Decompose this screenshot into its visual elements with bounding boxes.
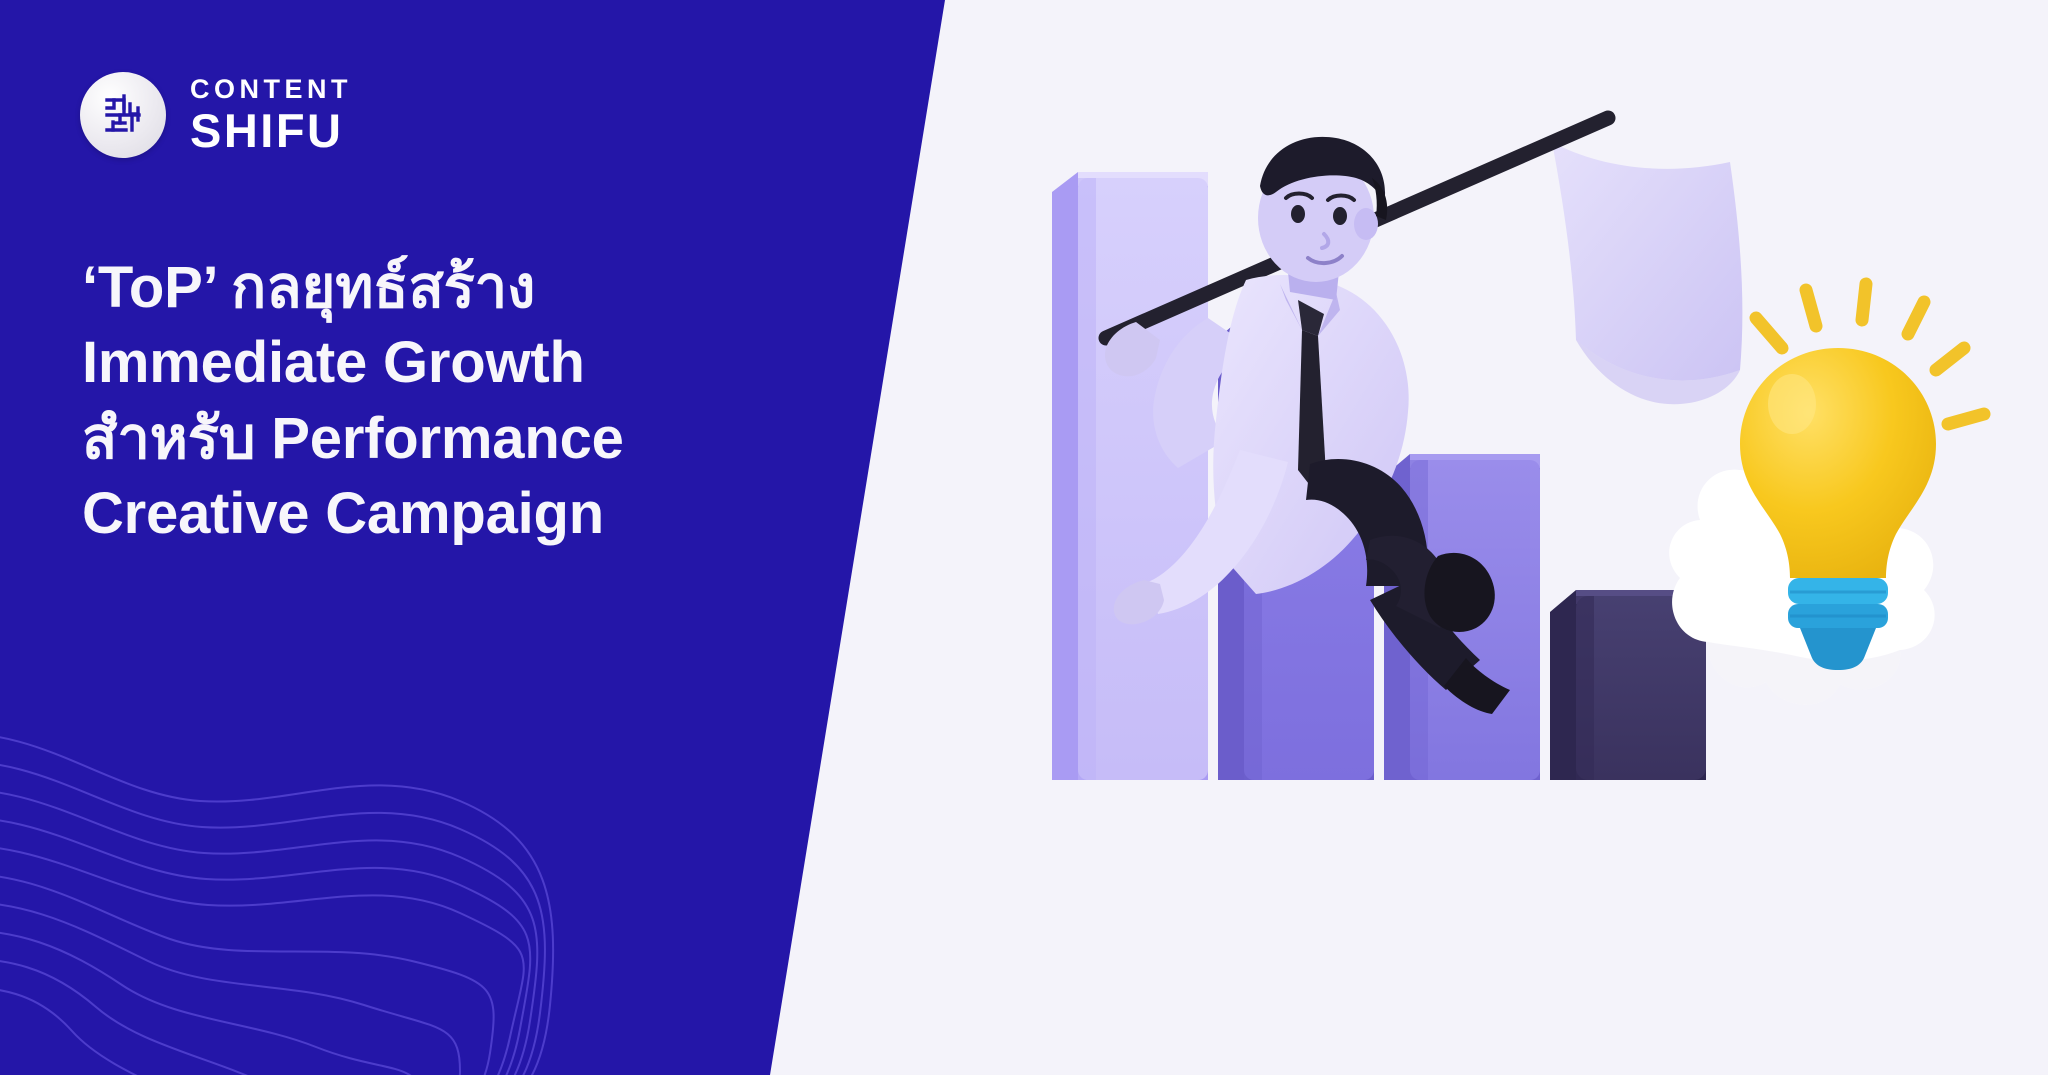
headline-line-1: ‘ToP’ กลยุทธ์สร้าง (82, 250, 782, 325)
contour-lines-decoration (0, 705, 580, 1075)
bar-1 (1052, 172, 1208, 780)
page-title: ‘ToP’ กลยุทธ์สร้าง Immediate Growth สำหร… (82, 250, 782, 552)
logo-badge-circle (80, 72, 166, 158)
left-brand-panel: CONTENT SHIFU ‘ToP’ กลยุทธ์สร้าง Immedia… (0, 0, 1080, 1075)
headline-line-2: Immediate Growth (82, 325, 782, 400)
hero-illustration (1040, 0, 2048, 1075)
contour-lines-svg (0, 705, 580, 1075)
logo-word-content: CONTENT (190, 76, 352, 103)
headline-line-4: Creative Campaign (82, 476, 782, 551)
illustration-svg (1040, 0, 2048, 1075)
brand-logo[interactable]: CONTENT SHIFU (80, 72, 352, 158)
headline-line-3: สำหรับ Performance (82, 401, 782, 476)
logo-wordmark: CONTENT SHIFU (190, 76, 352, 154)
logo-word-shifu: SHIFU (190, 107, 352, 154)
poster-canvas: CONTENT SHIFU ‘ToP’ กลยุทธ์สร้าง Immedia… (0, 0, 2048, 1075)
content-shifu-maze-icon (94, 86, 152, 144)
flag (1552, 142, 1742, 404)
